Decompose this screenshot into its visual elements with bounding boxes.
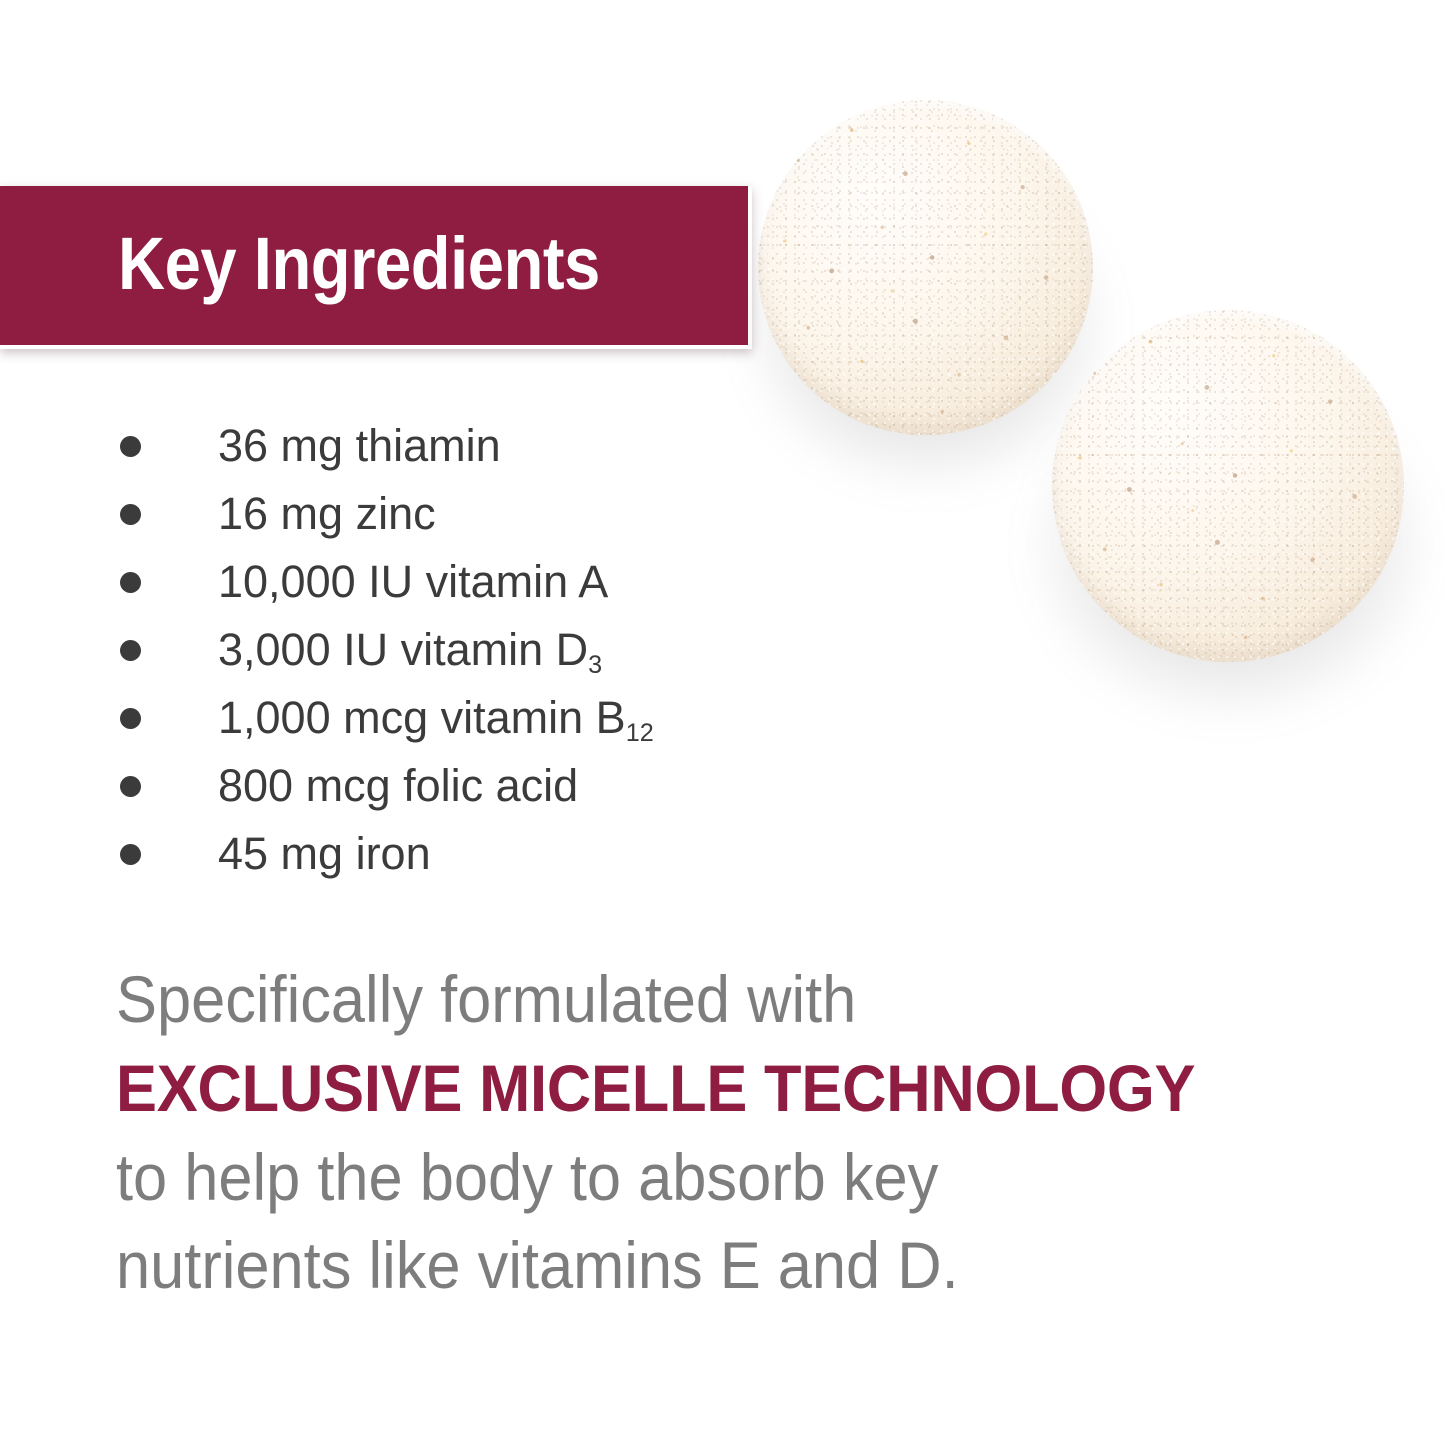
ingredient-label: 36 mg thiamin [218, 412, 501, 480]
micelle-technology-text: EXCLUSIVE MICELLE TECHNOLOGY [116, 1043, 1288, 1133]
infographic-canvas: Key Ingredients 36 mg thiamin 16 mg zinc… [0, 0, 1445, 1445]
list-item: 16 mg zinc [0, 480, 900, 548]
ingredient-label: 800 mcg folic acid [218, 752, 578, 820]
bullet-dot-icon [120, 708, 141, 729]
closing-line-1: Specifically formulated with [116, 955, 1288, 1043]
bullet-dot-icon [120, 504, 141, 525]
effervescent-tablet-top [758, 100, 1093, 435]
tablet-one-rim [758, 100, 1093, 435]
bullet-dot-icon [120, 844, 141, 865]
ingredient-subscript: 3 [588, 651, 602, 679]
closing-paragraph: Specifically formulated with EXCLUSIVE M… [116, 955, 1376, 1309]
ingredient-label: 45 mg iron [218, 820, 431, 888]
tablet-one-speckles-fine [758, 100, 1093, 435]
list-item: 45 mg iron [0, 820, 900, 888]
bullet-dot-icon [120, 776, 141, 797]
tablet-two-rim [1052, 310, 1404, 662]
bullet-dot-icon [120, 640, 141, 661]
list-item: 3,000 IU vitamin D3 [0, 616, 900, 684]
closing-line-4: nutrients like vitamins E and D. [116, 1221, 1288, 1309]
ingredient-label: 1,000 mcg vitamin B12 [218, 684, 654, 752]
ingredient-subscript: 12 [626, 719, 654, 747]
ingredient-label: 10,000 IU vitamin A [218, 548, 608, 616]
tablet-two-speckles-fine [1052, 310, 1404, 662]
effervescent-tablet-bottom [1052, 310, 1404, 662]
ingredient-label: 16 mg zinc [218, 480, 436, 548]
list-item: 800 mcg folic acid [0, 752, 900, 820]
tablet-two-shadow [1030, 370, 1430, 720]
list-item: 10,000 IU vitamin A [0, 548, 900, 616]
ingredient-label: 3,000 IU vitamin D3 [218, 616, 602, 684]
tablet-two-edge [1056, 330, 1400, 662]
tablet-one-speckles [758, 100, 1093, 435]
tablet-one-edge [764, 118, 1087, 435]
closing-line-3: to help the body to absorb key [116, 1133, 1288, 1221]
tablet-two-face [1052, 310, 1404, 662]
list-item: 1,000 mcg vitamin B12 [0, 684, 900, 752]
list-item: 36 mg thiamin [0, 412, 900, 480]
ingredients-list: 36 mg thiamin 16 mg zinc 10,000 IU vitam… [0, 412, 900, 888]
tablet-one-face [758, 100, 1093, 435]
bullet-dot-icon [120, 572, 141, 593]
tablet-two-speckles [1052, 310, 1404, 662]
page-title: Key Ingredients [118, 222, 600, 306]
bullet-dot-icon [120, 436, 141, 457]
